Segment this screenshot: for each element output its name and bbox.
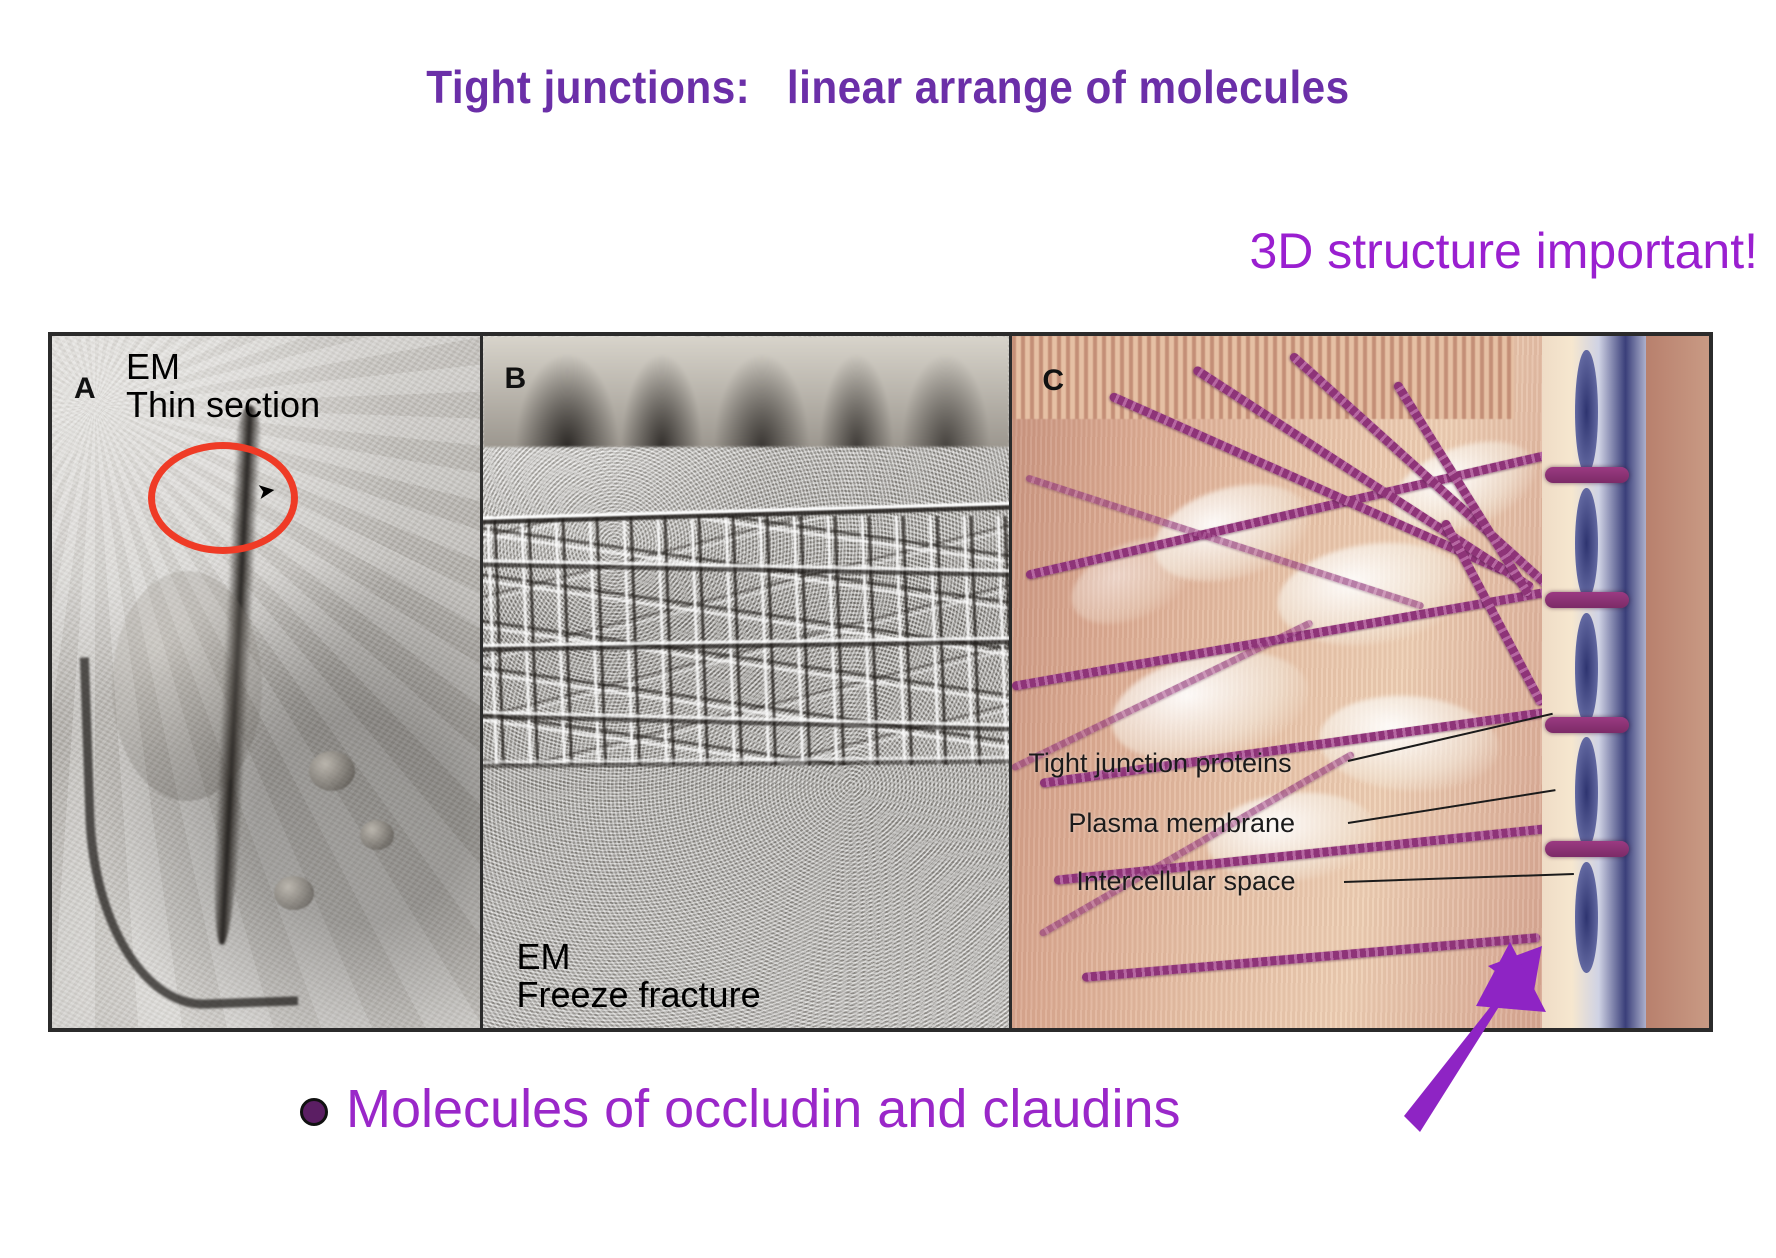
- label-intercellular-space: Intercellular space: [1076, 866, 1295, 897]
- nucleus-region: [112, 571, 262, 801]
- cytoplasm-region: [1646, 336, 1709, 1028]
- apical-microvilli: [1012, 336, 1514, 419]
- intercellular-space-lumen: [1575, 350, 1597, 475]
- tj-protein-pinch: [1545, 717, 1629, 733]
- panel-letter-a: A: [74, 372, 96, 406]
- bullet-text: Molecules of occludin and claudins: [346, 1082, 1181, 1136]
- tj-protein-pinch: [1545, 841, 1629, 857]
- intercellular-space-lumen: [1575, 613, 1597, 724]
- fracture-shadow-band: [483, 336, 1010, 447]
- subtitle-3d-structure: 3D structure important!: [1249, 222, 1758, 280]
- panel-letter-b: B: [505, 362, 527, 396]
- panel-a-thin-section: A EM Thin section ➤: [52, 336, 483, 1028]
- label-plasma-membrane: Plasma membrane: [1068, 808, 1295, 839]
- bullet-line: Molecules of occludin and claudins: [300, 1082, 1181, 1136]
- intercellular-space-lumen: [1575, 488, 1597, 599]
- intercellular-space-lumen: [1575, 737, 1597, 848]
- vesicle: [360, 820, 394, 850]
- vesicle: [309, 751, 355, 791]
- purple-arrow-annotation-icon: [1360, 920, 1620, 1150]
- panel-letter-c: C: [1042, 364, 1064, 398]
- vesicle: [274, 876, 314, 910]
- tj-protein-pinch: [1545, 592, 1629, 608]
- panel-b-freeze-fracture: B EM Freeze fracture: [483, 336, 1013, 1028]
- black-pointer-arrow-icon: ➤: [255, 477, 277, 505]
- panel-b-caption: EM Freeze fracture: [517, 938, 761, 1014]
- panel-a-caption: EM Thin section: [126, 348, 320, 424]
- bullet-dot-icon: [300, 1098, 328, 1126]
- page-title: Tight junctions: linear arrange of molec…: [71, 60, 1705, 114]
- tj-protein-pinch: [1545, 467, 1629, 483]
- label-tight-junction-proteins: Tight junction proteins: [1028, 748, 1291, 779]
